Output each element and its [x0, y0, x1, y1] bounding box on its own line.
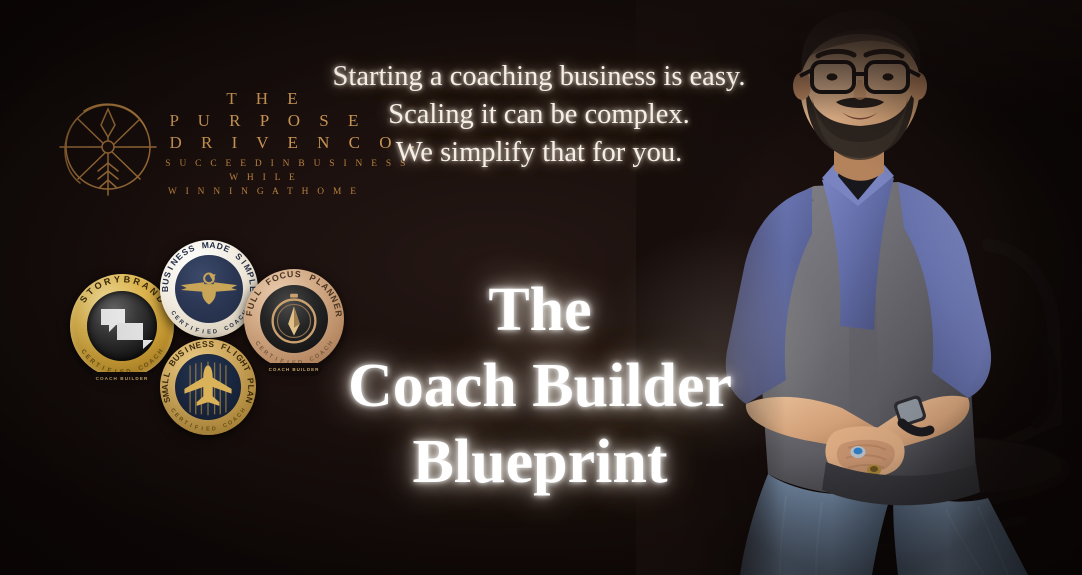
tagline: Starting a coaching business is easy. Sc… [292, 58, 786, 172]
title-line-2: Coach Builder [300, 348, 780, 424]
compass-arrow-icon [54, 91, 162, 203]
compass-icon [260, 285, 328, 353]
logo-sub-winning: W I N N I N G A T H O M E [162, 185, 362, 199]
page-title: The Coach Builder Blueprint [300, 272, 780, 500]
tagline-line-1: Starting a coaching business is easy. [292, 58, 786, 96]
airplane-icon [175, 354, 241, 420]
title-line-3: Blueprint [300, 424, 780, 500]
badge-sbfp-core [175, 354, 241, 420]
tagline-line-3: We simplify that for you. [292, 134, 786, 172]
title-line-1: The [300, 272, 780, 348]
badge-storybrand-tab: COACH BUILDER [93, 372, 151, 385]
badge-small-business-flight-plan[interactable]: SMALL BUSINESS FLIGHT PLANCERTIFIED COAC… [160, 339, 256, 435]
winged-emblem-icon [175, 255, 243, 323]
badge-ffp-tab: COACH BUILDER [266, 363, 322, 376]
badge-bms-core [175, 255, 243, 323]
tagline-line-2: Scaling it can be complex. [292, 96, 786, 134]
badge-storybrand-core [87, 291, 157, 361]
badge-storybrand[interactable]: STORYBRANDCERTIFIED COACH COACH BUILDER [70, 274, 174, 378]
promo-banner: T H E P U R P O S E D R I V E N C O . S … [0, 0, 1082, 575]
badge-ffp-core [260, 285, 328, 353]
badge-full-focus-planner[interactable]: FULL FOCUS PLANNERCERTIFIED COACH COACH … [244, 269, 344, 369]
logo-sub-while: W H I L E [162, 171, 362, 185]
speech-bubbles-icon [87, 291, 157, 361]
